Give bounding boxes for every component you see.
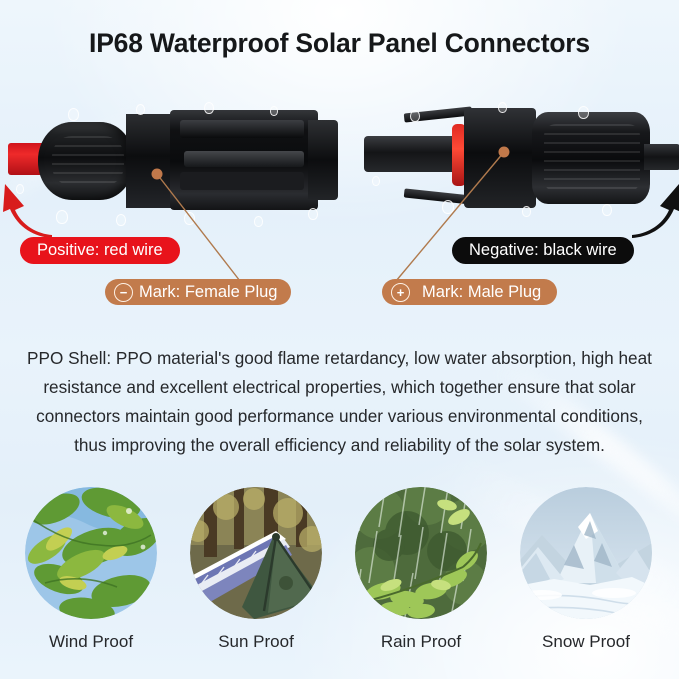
female-connector-barrel: STOP [170, 110, 318, 210]
ppo-shell-description: PPO Shell: PPO material's good flame ret… [26, 344, 653, 460]
rain-proof-image [355, 487, 487, 619]
female-plug-badge: − Mark: Female Plug [105, 279, 291, 305]
female-connector-tip [308, 120, 338, 200]
feature-rain-proof: Rain Proof [344, 487, 498, 652]
feature-label: Snow Proof [509, 632, 663, 652]
male-plug-badge: + Mark: Male Plug [382, 279, 557, 305]
negative-wire-badge: Negative: black wire [452, 237, 634, 264]
black-arrow-pointing-right [630, 180, 679, 238]
water-droplet [184, 212, 195, 225]
male-connector-collar [464, 108, 536, 208]
infographic-page: IP68 Waterproof Solar Panel Connectors S… [0, 0, 679, 679]
feature-row: Wind Proof [0, 487, 679, 672]
black-wire [644, 144, 679, 170]
minus-mark-icon: − [114, 283, 133, 302]
negative-wire-label: Negative: black wire [469, 241, 617, 260]
feature-snow-proof: Snow Proof [509, 487, 663, 652]
feature-label: Sun Proof [179, 632, 333, 652]
positive-wire-badge: Positive: red wire [20, 237, 180, 264]
sun-proof-image [190, 487, 322, 619]
positive-wire-label: Positive: red wire [37, 241, 163, 260]
male-connector-image [352, 88, 677, 228]
female-plug-label: Mark: Female Plug [139, 283, 277, 302]
page-title: IP68 Waterproof Solar Panel Connectors [0, 28, 679, 59]
red-arrow-pointing-left [2, 180, 54, 238]
water-droplet [254, 216, 263, 227]
female-connector-image: STOP [8, 88, 338, 228]
plus-mark-icon: + [391, 283, 410, 302]
connector-photo-area: STOP [0, 82, 679, 237]
water-droplet [116, 214, 126, 226]
male-connector-pin [364, 136, 456, 172]
water-droplet [56, 210, 68, 224]
water-droplet [602, 204, 612, 216]
male-connector-clip [404, 106, 473, 122]
water-droplet [68, 108, 79, 121]
feature-sun-proof: Sun Proof [179, 487, 333, 652]
feature-wind-proof: Wind Proof [14, 487, 168, 652]
snow-proof-image [520, 487, 652, 619]
wind-proof-image [25, 487, 157, 619]
male-plug-label: Mark: Male Plug [422, 283, 541, 302]
feature-label: Wind Proof [14, 632, 168, 652]
feature-label: Rain Proof [344, 632, 498, 652]
male-connector-clip [404, 188, 473, 204]
water-droplet [372, 176, 380, 186]
